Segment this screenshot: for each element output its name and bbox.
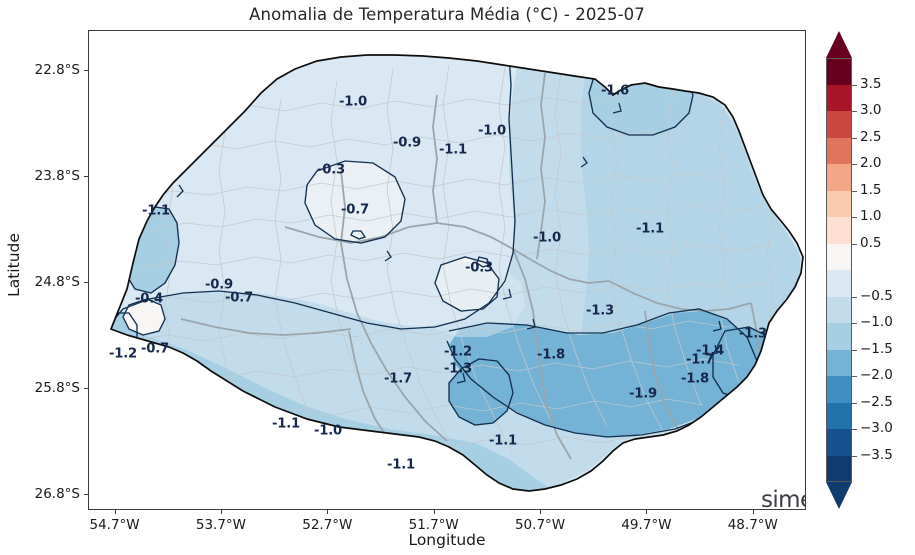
x-tick-mark xyxy=(753,510,754,514)
colorbar-tick-mark xyxy=(852,429,857,430)
contour-value-label: -1.9 xyxy=(629,387,657,402)
colorbar-tick-mark xyxy=(852,350,857,351)
contour-value-label: -1.0 xyxy=(339,95,367,110)
contour-value-label: -1.3 xyxy=(586,304,614,319)
colorbar-segment xyxy=(826,85,852,112)
colorbar-tick-mark xyxy=(852,138,857,139)
contour-value-label: -1.1 xyxy=(636,222,664,237)
contour-value-label: -1.7 xyxy=(686,353,714,368)
colorbar-segment xyxy=(826,164,852,191)
y-tick-label: 26.8°S xyxy=(10,486,80,502)
contour-value-label: -1.1 xyxy=(489,434,517,449)
chart-title: Anomalia de Temperatura Média (°C) - 202… xyxy=(88,5,806,24)
x-tick-mark xyxy=(434,510,435,514)
contour-value-label: -1.8 xyxy=(681,372,709,387)
colorbar-tick-mark xyxy=(852,403,857,404)
x-tick-mark xyxy=(646,510,647,514)
colorbar-segment xyxy=(826,217,852,244)
contour-value-label: -1.3 xyxy=(739,327,767,342)
contour-value-label: -1.1 xyxy=(272,417,300,432)
x-tick-mark xyxy=(115,510,116,514)
contour-value-label: -1.0 xyxy=(478,124,506,139)
colorbar-tick-label: −0.5 xyxy=(860,288,893,304)
colorbar-tick-label: −1.5 xyxy=(860,341,893,357)
colorbar-tick-label: −3.5 xyxy=(860,447,893,463)
temperature-anomaly-contour-map xyxy=(89,31,805,509)
contour-value-label: -0.9 xyxy=(393,136,421,151)
contour-value-label: -1.1 xyxy=(387,458,415,473)
simepar-wordmark: simepar xyxy=(761,487,806,510)
colorbar-tick-label: −2.5 xyxy=(860,394,893,410)
contour-value-label: -1.3 xyxy=(444,362,472,377)
contour-value-label: -1.1 xyxy=(439,143,467,158)
colorbar-segment xyxy=(826,270,852,297)
contour-value-label: -1.0 xyxy=(314,424,342,439)
colorbar-extend-max-arrow xyxy=(826,31,852,58)
x-tick-mark xyxy=(327,510,328,514)
contour-value-label: -0.7 xyxy=(341,203,369,218)
colorbar-segment xyxy=(826,376,852,403)
colorbar-segment xyxy=(826,429,852,456)
colorbar-segment xyxy=(826,403,852,430)
contour-value-label: -1.2 xyxy=(444,345,472,360)
colorbar-tick-label: 1.5 xyxy=(860,182,881,198)
contour-value-label: -1.8 xyxy=(537,348,565,363)
contour-value-label: -1.2 xyxy=(109,347,137,362)
contour-value-label: -0.4 xyxy=(135,292,163,307)
colorbar-tick-mark xyxy=(852,456,857,457)
colorbar-tick-label: −3.0 xyxy=(860,420,893,436)
x-tick-mark xyxy=(540,510,541,514)
y-tick-mark xyxy=(84,494,88,495)
colorbar-tick-mark xyxy=(852,217,857,218)
y-axis-label: Latitude xyxy=(5,165,23,365)
colorbar-tick-label: 3.0 xyxy=(860,102,881,118)
contour-value-label: -1.7 xyxy=(384,372,412,387)
colorbar-tick-label: 2.0 xyxy=(860,155,881,171)
colorbar-tick-label: −1.0 xyxy=(860,314,893,330)
colorbar-segment xyxy=(826,323,852,350)
figure-canvas: Anomalia de Temperatura Média (°C) - 202… xyxy=(0,0,915,555)
colorbar-extend-min-arrow xyxy=(826,482,852,509)
y-tick-mark xyxy=(84,388,88,389)
contour-value-label: -0.3 xyxy=(317,163,345,178)
contour-value-label: -1.0 xyxy=(533,231,561,246)
colorbar-tick-mark xyxy=(852,85,857,86)
colorbar-segment xyxy=(826,244,852,271)
simepar-logo: simepar xyxy=(761,487,806,510)
colorbar-segment xyxy=(826,111,852,138)
colorbar[interactable] xyxy=(826,58,852,482)
y-tick-label: 25.8°S xyxy=(10,380,80,396)
colorbar-tick-label: 2.5 xyxy=(860,129,881,145)
x-tick-mark xyxy=(221,510,222,514)
contour-value-label: -1.1 xyxy=(142,204,170,219)
y-tick-mark xyxy=(84,176,88,177)
colorbar-segment xyxy=(826,138,852,165)
colorbar-tick-mark xyxy=(852,244,857,245)
contour-value-label: -1.6 xyxy=(601,84,629,99)
y-tick-mark xyxy=(84,70,88,71)
colorbar-segment xyxy=(826,191,852,218)
colorbar-tick-mark xyxy=(852,164,857,165)
colorbar-tick-label: 0.5 xyxy=(860,235,881,251)
colorbar-tick-mark xyxy=(852,191,857,192)
colorbar-segment xyxy=(826,350,852,377)
colorbar-segment xyxy=(826,58,852,85)
colorbar-tick-mark xyxy=(852,376,857,377)
colorbar-tick-label: 3.5 xyxy=(860,76,881,92)
map-plot-area[interactable]: simepar xyxy=(88,30,806,510)
colorbar-tick-mark xyxy=(852,111,857,112)
contour-value-label: -0.7 xyxy=(225,291,253,306)
colorbar-tick-mark xyxy=(852,323,857,324)
colorbar-segment xyxy=(826,297,852,324)
y-tick-mark xyxy=(84,282,88,283)
colorbar-tick-label: −2.0 xyxy=(860,367,893,383)
contour-value-label: -0.3 xyxy=(465,261,493,276)
y-tick-label: 22.8°S xyxy=(10,62,80,78)
colorbar-segment xyxy=(826,456,852,483)
colorbar-tick-mark xyxy=(852,297,857,298)
colorbar-tick-label: 1.0 xyxy=(860,208,881,224)
x-axis-label: Longitude xyxy=(88,531,806,549)
contour-value-label: -0.7 xyxy=(141,342,169,357)
